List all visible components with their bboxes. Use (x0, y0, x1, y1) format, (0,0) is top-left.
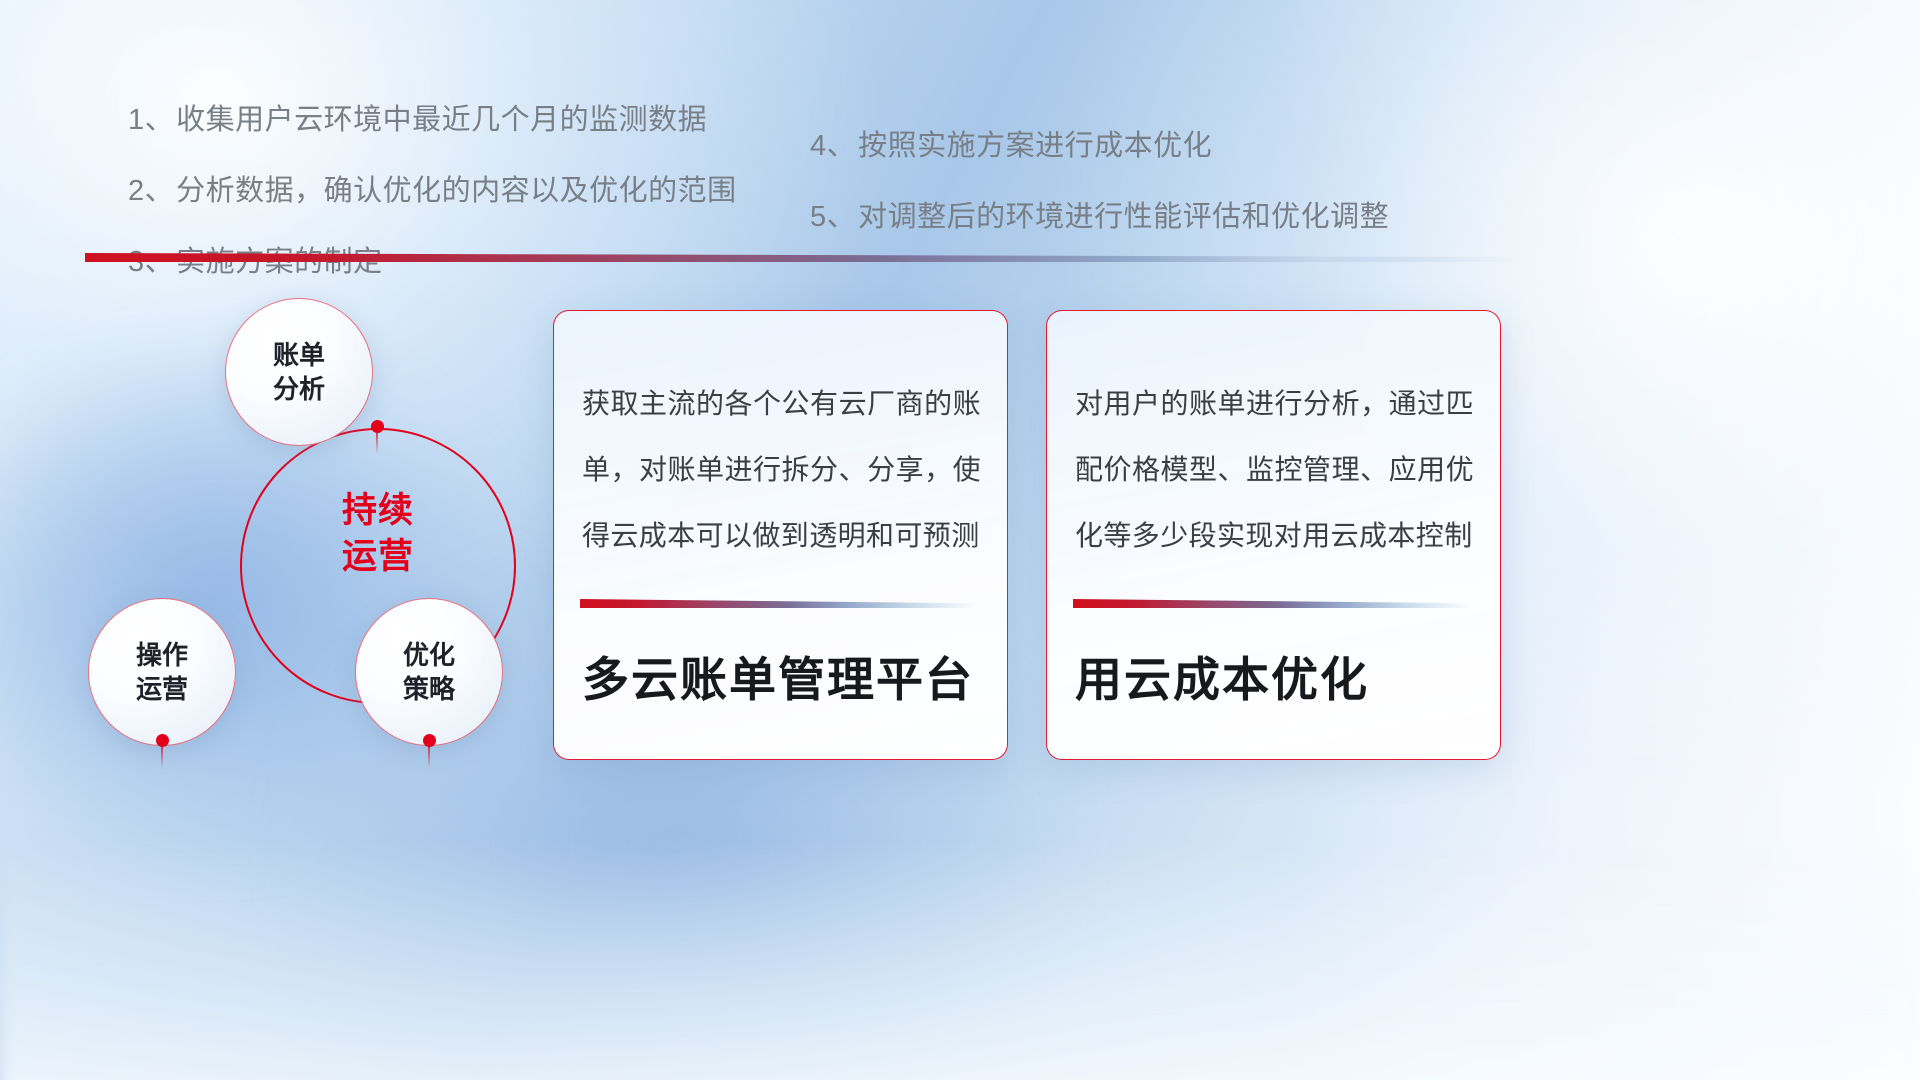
card-accent-rule (580, 599, 978, 608)
card-body-text: 对用户的账单进行分析，通过匹配价格模型、监控管理、应用优化等多少段实现对用云成本… (1075, 371, 1474, 568)
card-accent-rule (1073, 599, 1471, 608)
diagram-bubble-optimization-strategy[interactable]: 优化 策略 (355, 598, 503, 746)
diagram-node-tail-left (161, 746, 163, 768)
center-label-line2: 运营 (240, 534, 516, 580)
steps-right-column: 4、 按照实施方案进行成本优化 5、 对调整后的环境进行性能评估和优化调整 (810, 122, 1389, 264)
bubble-label-line1: 账单 (273, 338, 325, 372)
divider-bar (85, 253, 1515, 262)
background-bottom-fade (0, 840, 1920, 1080)
diagram-node-dot-top (371, 420, 384, 433)
step-item: 5、 对调整后的环境进行性能评估和优化调整 (810, 193, 1389, 235)
step-number: 5、 (810, 193, 856, 235)
card-body-text: 获取主流的各个公有云厂商的账单，对账单进行拆分、分享，使得云成本可以做到透明和可… (582, 371, 981, 568)
steps-left-column: 1、 收集用户云环境中最近几个月的监测数据 2、 分析数据，确认优化的内容以及优… (128, 96, 737, 309)
bubble-label-line2: 运营 (136, 672, 188, 706)
step-item: 1、 收集用户云环境中最近几个月的监测数据 (128, 96, 737, 138)
step-item: 2、 分析数据，确认优化的内容以及优化的范围 (128, 167, 737, 209)
slide-canvas: 1、 收集用户云环境中最近几个月的监测数据 2、 分析数据，确认优化的内容以及优… (0, 0, 1920, 1080)
diagram-node-dot-left (156, 734, 169, 747)
step-text: 分析数据，确认优化的内容以及优化的范围 (176, 167, 737, 209)
center-label-line1: 持续 (240, 488, 516, 534)
bubble-label-line2: 策略 (403, 672, 455, 706)
step-item: 4、 按照实施方案进行成本优化 (810, 122, 1389, 164)
step-text: 收集用户云环境中最近几个月的监测数据 (176, 96, 707, 138)
bubble-label-line2: 分析 (273, 372, 325, 406)
step-text: 按照实施方案进行成本优化 (858, 122, 1212, 164)
card-title: 用云成本优化 (1075, 641, 1369, 710)
step-number: 1、 (128, 96, 174, 138)
continuous-operation-diagram: 持续 运营 账单 分析 操作 运营 优化 策略 (80, 288, 550, 768)
card-multi-cloud-bill-platform[interactable]: 获取主流的各个公有云厂商的账单，对账单进行拆分、分享，使得云成本可以做到透明和可… (553, 310, 1008, 760)
step-text: 对调整后的环境进行性能评估和优化调整 (858, 193, 1389, 235)
diagram-center-label: 持续 运营 (240, 488, 516, 579)
diagram-bubble-operations[interactable]: 操作 运营 (88, 598, 236, 746)
step-number: 2、 (128, 167, 174, 209)
section-divider (85, 253, 1515, 262)
diagram-node-dot-right (423, 734, 436, 747)
bubble-label-line1: 操作 (136, 638, 188, 672)
step-number: 4、 (810, 122, 856, 164)
diagram-node-tail-right (428, 746, 430, 768)
card-title: 多云账单管理平台 (582, 641, 974, 710)
diagram-bubble-bill-analysis[interactable]: 账单 分析 (225, 298, 373, 446)
card-cloud-cost-optimization[interactable]: 对用户的账单进行分析，通过匹配价格模型、监控管理、应用优化等多少段实现对用云成本… (1046, 310, 1501, 760)
bubble-label-line1: 优化 (403, 638, 455, 672)
diagram-node-tail-top (376, 432, 378, 454)
